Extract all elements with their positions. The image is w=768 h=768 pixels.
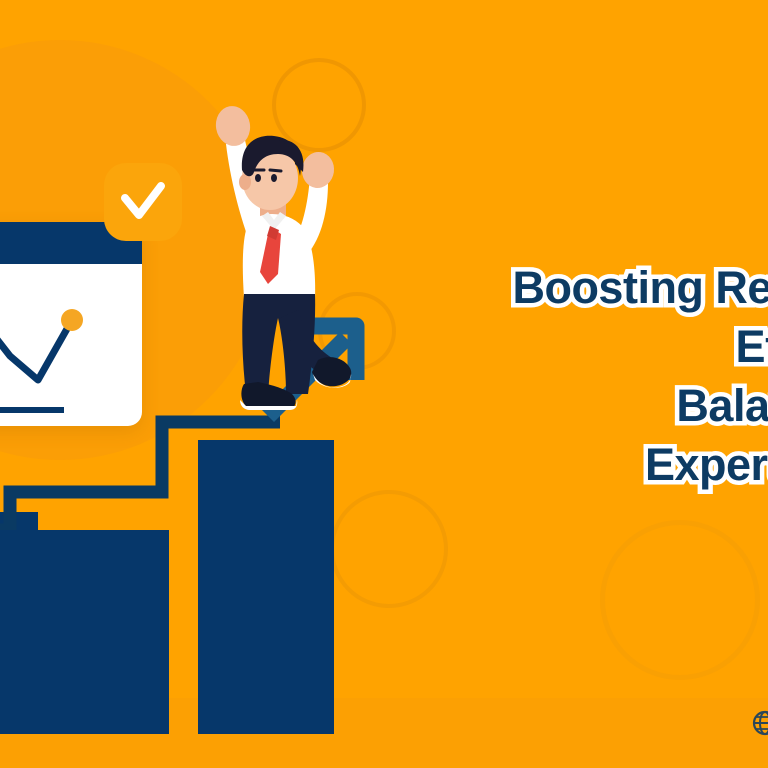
analytics-card <box>0 222 142 426</box>
chart-bar-2 <box>34 530 169 734</box>
headline-block: Boosting Reve Effo Balanc Expert T <box>400 258 768 494</box>
growth-arrow-icon <box>262 312 372 422</box>
headline-line-2: Effo <box>512 317 768 376</box>
chart-bar-1 <box>0 512 38 734</box>
background-ring-middle <box>318 292 396 370</box>
check-icon <box>120 182 166 222</box>
globe-icon <box>752 710 768 736</box>
celebrating-businessman-illustration <box>182 78 382 460</box>
headline-line-4: Expert T <box>512 435 768 494</box>
background-ring-right <box>600 520 760 680</box>
promo-banner: Boosting Reve Effo Balanc Expert T <box>0 0 768 768</box>
check-badge <box>104 163 182 241</box>
background-ring-top <box>272 58 366 152</box>
chart-bar-3 <box>198 440 334 734</box>
headline-line-1: Boosting Reve <box>512 258 768 317</box>
background-ring-lower <box>330 490 448 608</box>
headline-line-3: Balanc <box>512 376 768 435</box>
card-line-chart <box>0 264 142 426</box>
